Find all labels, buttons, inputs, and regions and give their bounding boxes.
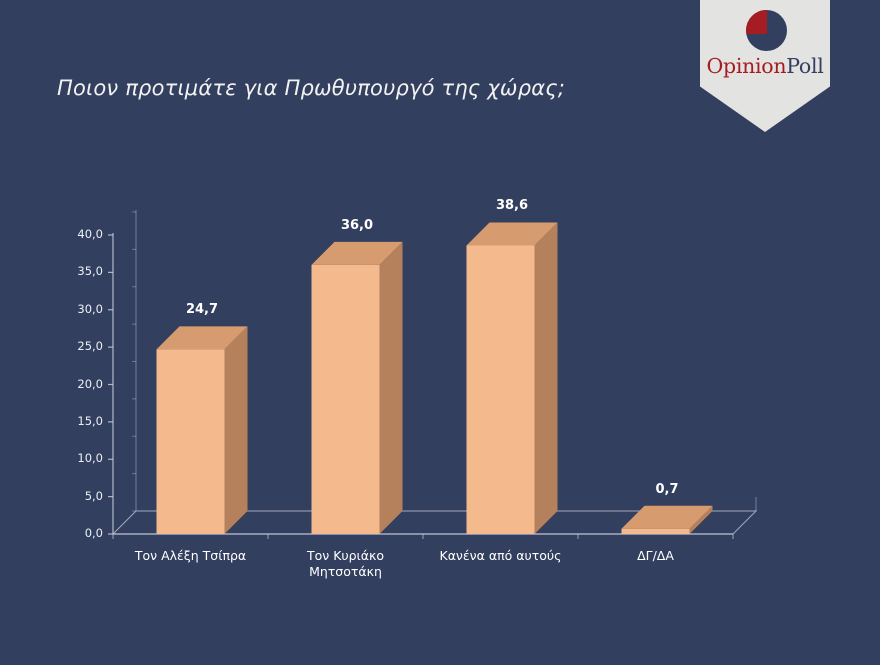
y-axis-tick-label: 0,0 [67,526,103,540]
x-axis-category-label: Τον Αλέξη Τσίπρα [111,548,271,564]
bar-value-label: 0,7 [603,482,731,497]
logo-wordmark: OpinionPoll [700,54,830,78]
y-axis-tick-label: 30,0 [67,302,103,316]
bar-value-label: 24,7 [138,302,266,317]
logo-word-opinion: Opinion [707,54,787,78]
pie-wedge-red [746,10,767,34]
y-axis-tick-label: 20,0 [67,377,103,391]
slide-canvas: OpinionPoll Ποιον προτιμάτε για Πρωθυπου… [0,0,880,665]
bar-value-label: 36,0 [293,218,421,233]
y-axis-tick-label: 10,0 [67,451,103,465]
pie-chart-icon [746,10,787,51]
y-axis-tick-label: 15,0 [67,414,103,428]
y-axis-tick-label: 5,0 [67,489,103,503]
bar-value-label: 38,6 [448,198,576,213]
y-axis-tick-label: 40,0 [67,227,103,241]
x-axis-category-label: ΔΓ/ΔΑ [576,548,736,564]
y-axis-tick-label: 25,0 [67,339,103,353]
x-axis-category-label: Κανένα από αυτούς [421,548,581,564]
logo-word-poll: Poll [786,54,823,78]
y-axis-tick-label: 35,0 [67,264,103,278]
x-axis-category-label: Τον Κυριάκο Μητσοτάκη [266,548,426,580]
